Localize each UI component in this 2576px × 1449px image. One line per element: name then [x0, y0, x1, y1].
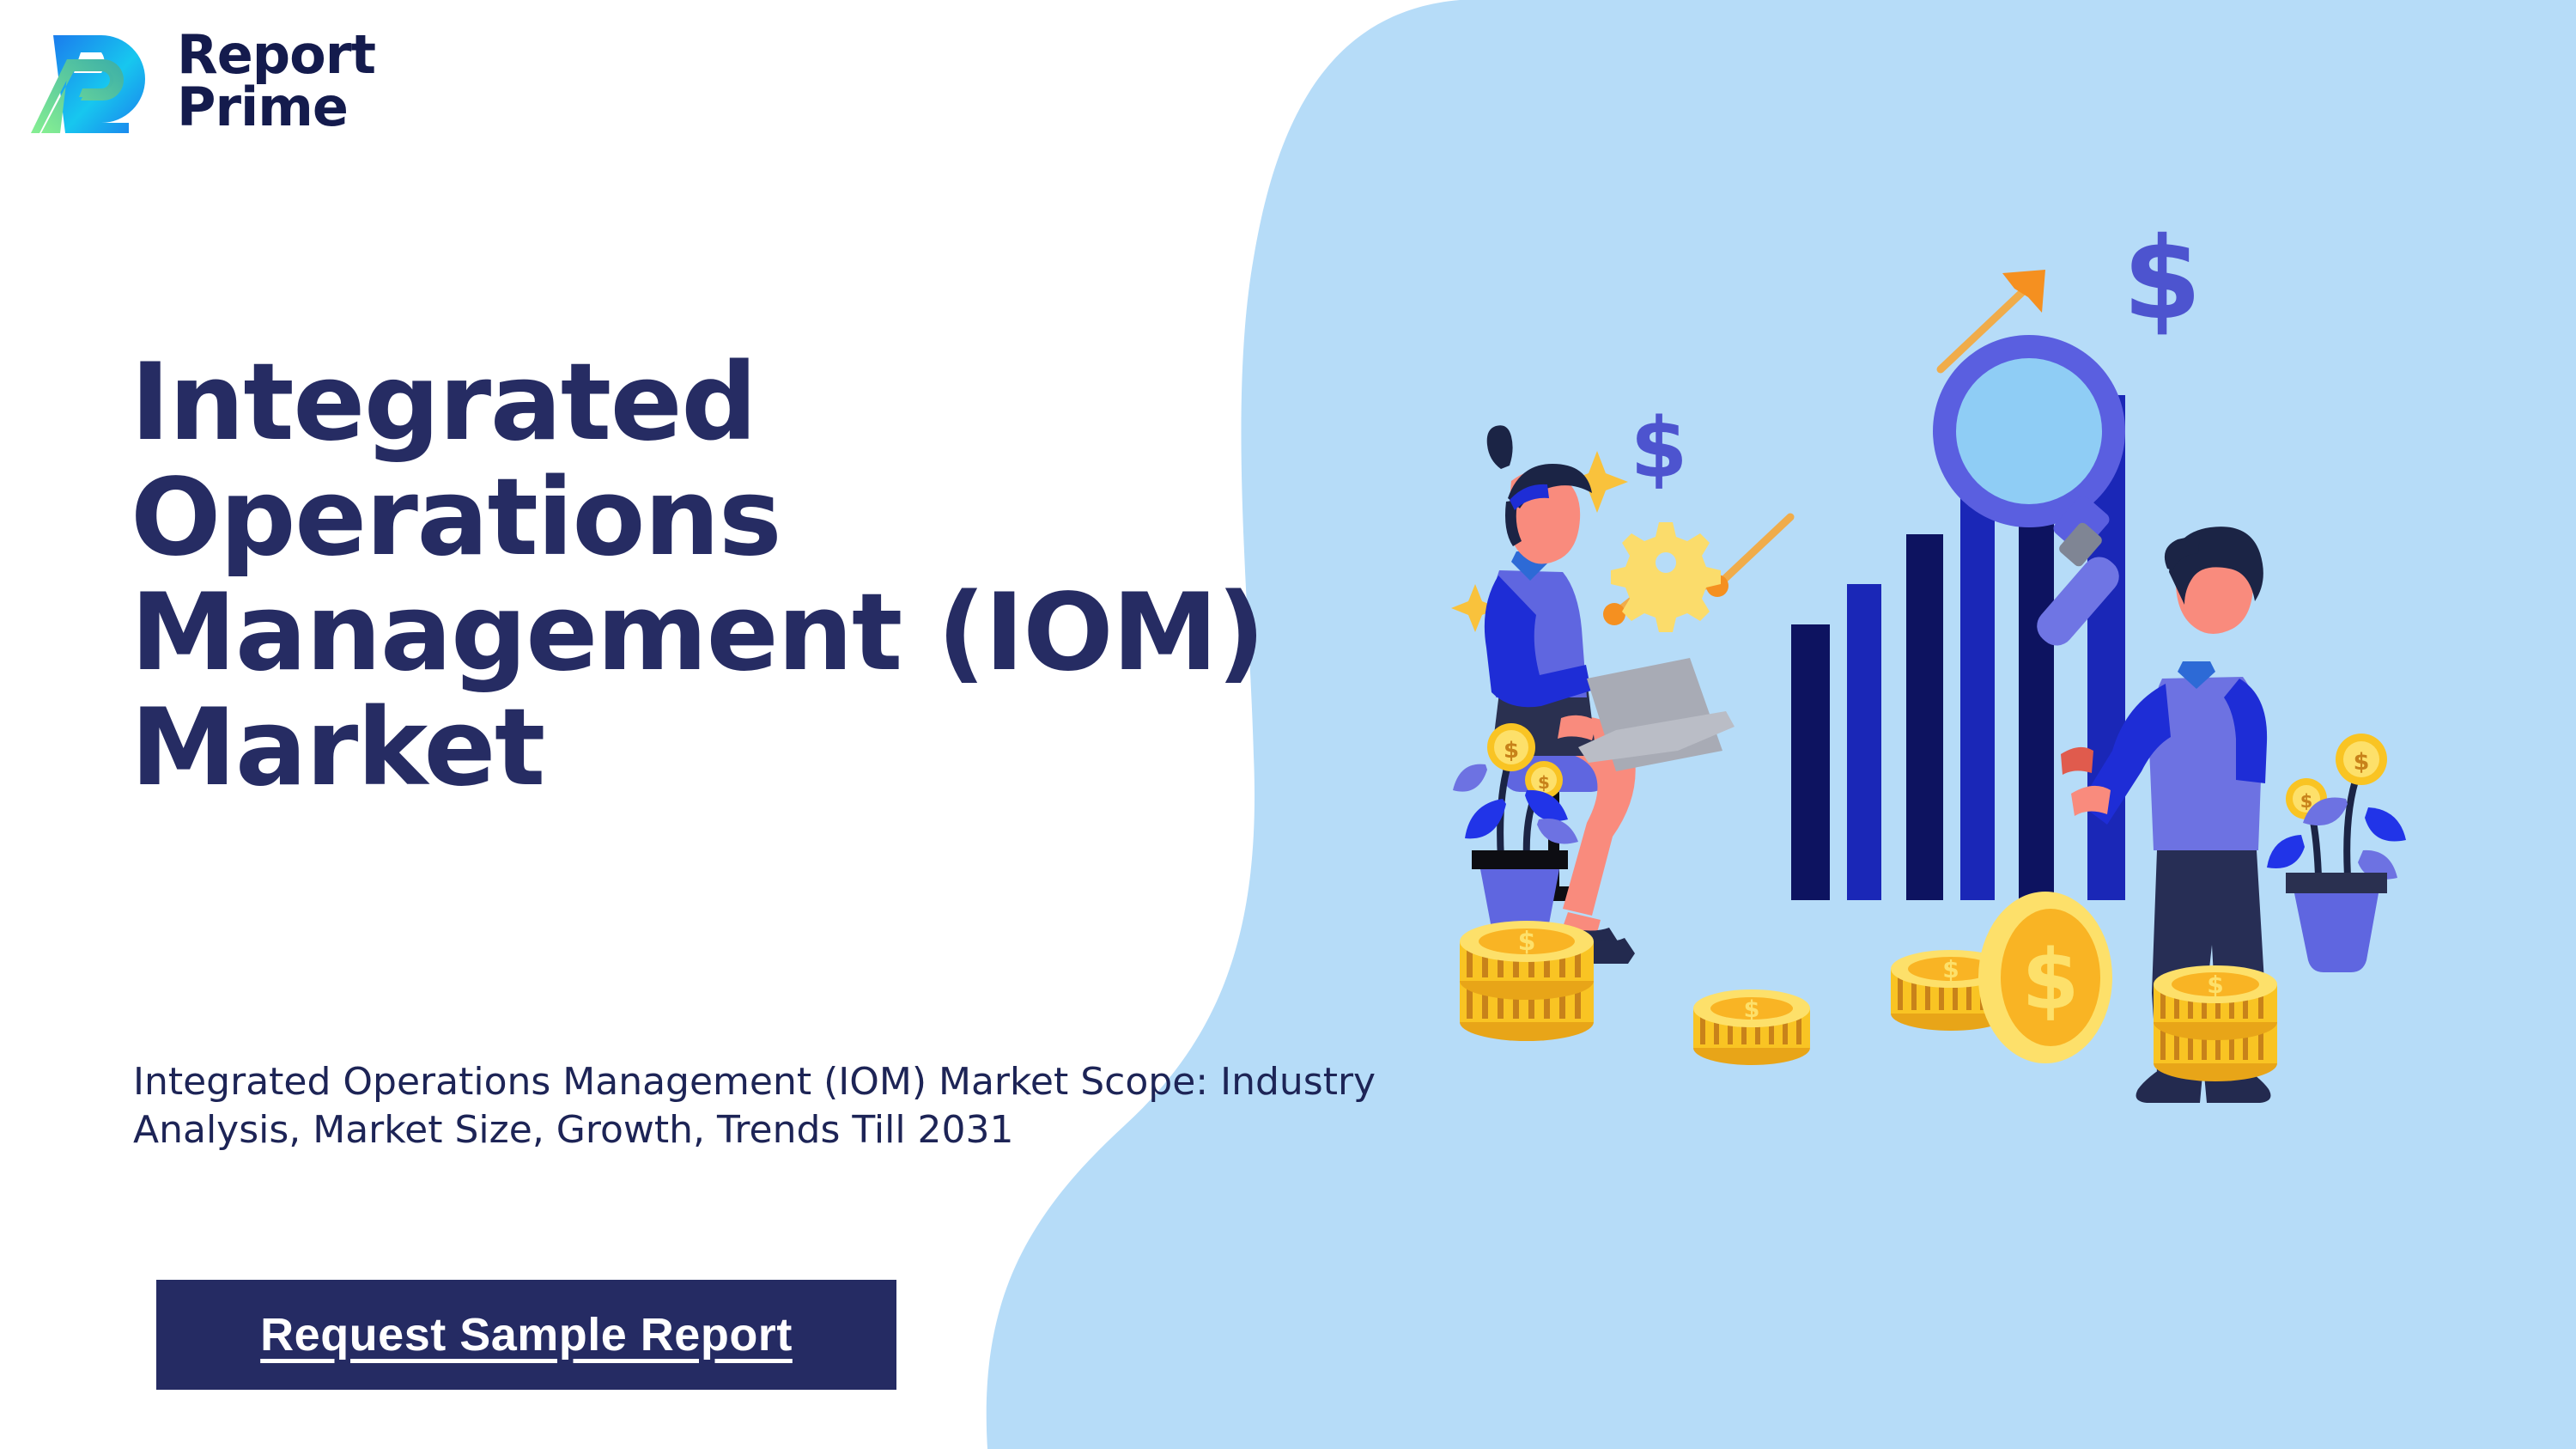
svg-text:$: $	[1538, 772, 1550, 793]
coin-stack: $	[2154, 965, 2277, 1081]
svg-text:$: $	[2354, 749, 2370, 776]
coin-upright: $	[1978, 892, 2112, 1063]
money-plant: $ $	[2267, 734, 2406, 972]
market-growth-analysis-illustration: $ $	[1460, 198, 2576, 1142]
market-report-banner: Report Prime Integrated Operations Manag…	[0, 0, 2576, 1449]
request-sample-report-label: Request Sample Report	[260, 1308, 793, 1361]
brand-logo-line-2: Prime	[177, 82, 375, 134]
report-prime-r-mark-icon	[29, 21, 158, 142]
request-sample-report-button[interactable]: Request Sample Report	[156, 1280, 896, 1390]
svg-text:$: $	[1631, 400, 1688, 496]
dollar-sign-large-icon: $	[2123, 213, 2202, 345]
brand-logo-line-1: Report	[177, 29, 375, 82]
gear-icon	[1611, 522, 1721, 632]
coin-stack: $	[1693, 989, 1810, 1065]
brand-logo[interactable]: Report Prime	[29, 17, 433, 146]
svg-text:$: $	[1518, 927, 1536, 957]
page-title: Integrated Operations Management (IOM) M…	[131, 346, 1281, 807]
svg-text:$: $	[2123, 213, 2202, 345]
coin-stack: $	[1460, 921, 1594, 1041]
svg-text:$: $	[1504, 738, 1519, 764]
brand-logo-text: Report Prime	[177, 29, 375, 134]
svg-text:$: $	[2207, 971, 2223, 999]
page-subtitle: Integrated Operations Management (IOM) M…	[133, 1058, 1524, 1155]
svg-text:$: $	[1942, 955, 1959, 983]
dollar-sign-icon: $	[1631, 400, 1688, 496]
svg-text:$: $	[2022, 932, 2080, 1028]
svg-text:$: $	[1744, 996, 1760, 1023]
